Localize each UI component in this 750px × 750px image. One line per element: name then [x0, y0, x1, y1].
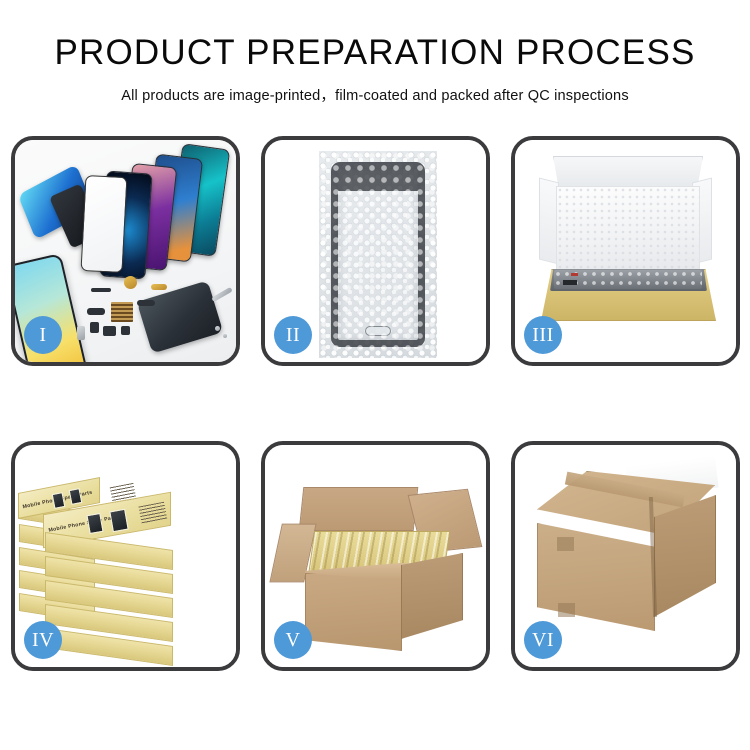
step-6-badge: VI	[524, 621, 562, 659]
steps-grid: I II	[11, 136, 740, 681]
part-metal-bracket	[77, 326, 85, 340]
page-title: PRODUCT PREPARATION PROCESS	[0, 34, 750, 73]
white-foam-lining	[556, 186, 700, 271]
header: PRODUCT PREPARATION PROCESS All products…	[0, 34, 750, 105]
screen-top-bezel	[338, 169, 418, 191]
part-screw-b	[223, 334, 227, 338]
part-vibration-motor	[121, 326, 130, 335]
part-gold-coil	[124, 276, 137, 289]
step-panel-2: II	[261, 136, 490, 366]
box-thumb-front-1	[86, 513, 103, 534]
step-panel-1: I	[11, 136, 240, 366]
part-screw-tray	[111, 302, 133, 322]
part-gold-connector	[151, 284, 167, 290]
step-1-badge: I	[24, 316, 62, 354]
step-4-badge: IV	[24, 621, 62, 659]
box-thumb-front-2	[109, 509, 128, 532]
step-panel-5: V	[261, 441, 490, 671]
page-subtitle: All products are image-printed，film-coat…	[0, 84, 750, 105]
carton-corner-patch-bottom	[558, 603, 575, 617]
label-black-mark	[563, 280, 577, 285]
part-earpiece-mesh	[91, 288, 111, 292]
home-button	[365, 326, 391, 336]
foam-texture	[557, 187, 699, 270]
part-flex-cable-right	[137, 300, 155, 306]
carton-back-flap	[299, 487, 419, 531]
step-5-badge: V	[274, 621, 312, 659]
carton-front-face	[305, 573, 402, 651]
step-panel-6: VI	[511, 441, 740, 671]
part-screw-a	[215, 326, 220, 331]
part-camera-module	[90, 322, 99, 333]
step-2-badge: II	[274, 316, 312, 354]
wrapped-screen-assembly	[331, 162, 425, 347]
part-speaker-module	[103, 326, 116, 336]
part-flex-cable-left	[87, 308, 105, 315]
box-lid-back-flap	[553, 156, 703, 190]
step-panel-3: III	[511, 136, 740, 366]
step-panel-4: Mobile Phone Spare Parts Mobile Phone Sp…	[11, 441, 240, 671]
screen-protector-glass	[81, 175, 128, 273]
label-red-mark	[571, 273, 578, 276]
step-3-badge: III	[524, 316, 562, 354]
product-preparation-infographic: PRODUCT PREPARATION PROCESS All products…	[0, 0, 750, 750]
carton-corner-patch-top	[557, 537, 574, 551]
